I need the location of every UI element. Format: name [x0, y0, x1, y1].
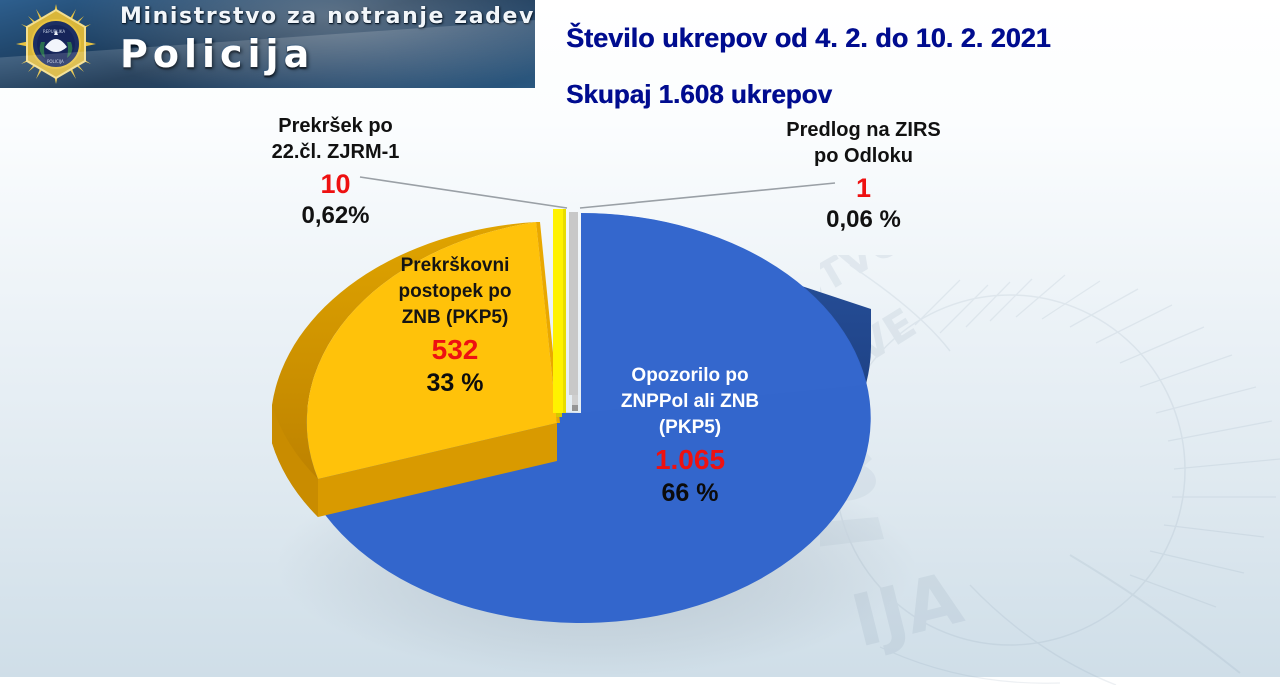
- callout-label-line-2: po Odloku: [756, 143, 971, 169]
- police-header-banner: REPUBLIKA POLICIJA Ministrstvo za notran…: [0, 0, 535, 88]
- slice-predlog-zirs: [569, 212, 578, 411]
- callout-prekrsek-zjrm: Prekršek po 22.čl. ZJRM-1 10 0,62%: [228, 113, 443, 231]
- slice-percent: 66 %: [590, 478, 790, 509]
- slice-prekrsek-zjrm: [553, 209, 566, 417]
- slice-label-line-2: postopek po: [370, 279, 540, 305]
- slice-label-line-3: (PKP5): [590, 415, 790, 441]
- banner-police-line: Policija: [120, 32, 530, 76]
- slice-label-line-3: ZNB (PKP5): [370, 305, 540, 331]
- slice-label-line-2: ZNPPol ali ZNB: [590, 389, 790, 415]
- banner-ministry-line: Ministrstvo za notranje zadeve: [120, 4, 530, 30]
- page-title: Število ukrepov od 4. 2. do 10. 2. 2021: [566, 10, 1266, 66]
- slice-label-prekrskovni-postopek: Prekrškovni postopek po ZNB (PKP5) 532 3…: [370, 253, 540, 399]
- callout-value: 1: [756, 172, 971, 204]
- banner-text-block: Ministrstvo za notranje zadeve Policija: [120, 4, 530, 86]
- slice-label-line-1: Opozorilo po: [590, 363, 790, 389]
- callout-label-line-1: Prekršek po: [228, 113, 443, 139]
- slice-label-opozorilo-znppol: Opozorilo po ZNPPol ali ZNB (PKP5) 1.065…: [590, 363, 790, 509]
- callout-label-line-2: 22.čl. ZJRM-1: [228, 139, 443, 165]
- slice-value: 532: [370, 333, 540, 367]
- police-emblem-icon: REPUBLIKA POLICIJA: [8, 4, 104, 84]
- callout-label-line-1: Predlog na ZIRS: [756, 117, 971, 143]
- slice-percent: 33 %: [370, 368, 540, 399]
- svg-text:REPUBLIKA: REPUBLIKA: [43, 29, 65, 34]
- callout-value: 10: [228, 168, 443, 200]
- svg-text:POLICIJA: POLICIJA: [47, 59, 64, 64]
- slice-value: 1.065: [590, 443, 790, 477]
- callout-predlog-zirs: Predlog na ZIRS po Odloku 1 0,06 %: [756, 117, 971, 235]
- slice-label-line-1: Prekrškovni: [370, 253, 540, 279]
- pie-chart: Prekršek po 22.čl. ZJRM-1 10 0,62% Predl…: [0, 95, 1280, 677]
- callout-percent: 0,62%: [228, 201, 443, 231]
- callout-percent: 0,06 %: [756, 205, 971, 235]
